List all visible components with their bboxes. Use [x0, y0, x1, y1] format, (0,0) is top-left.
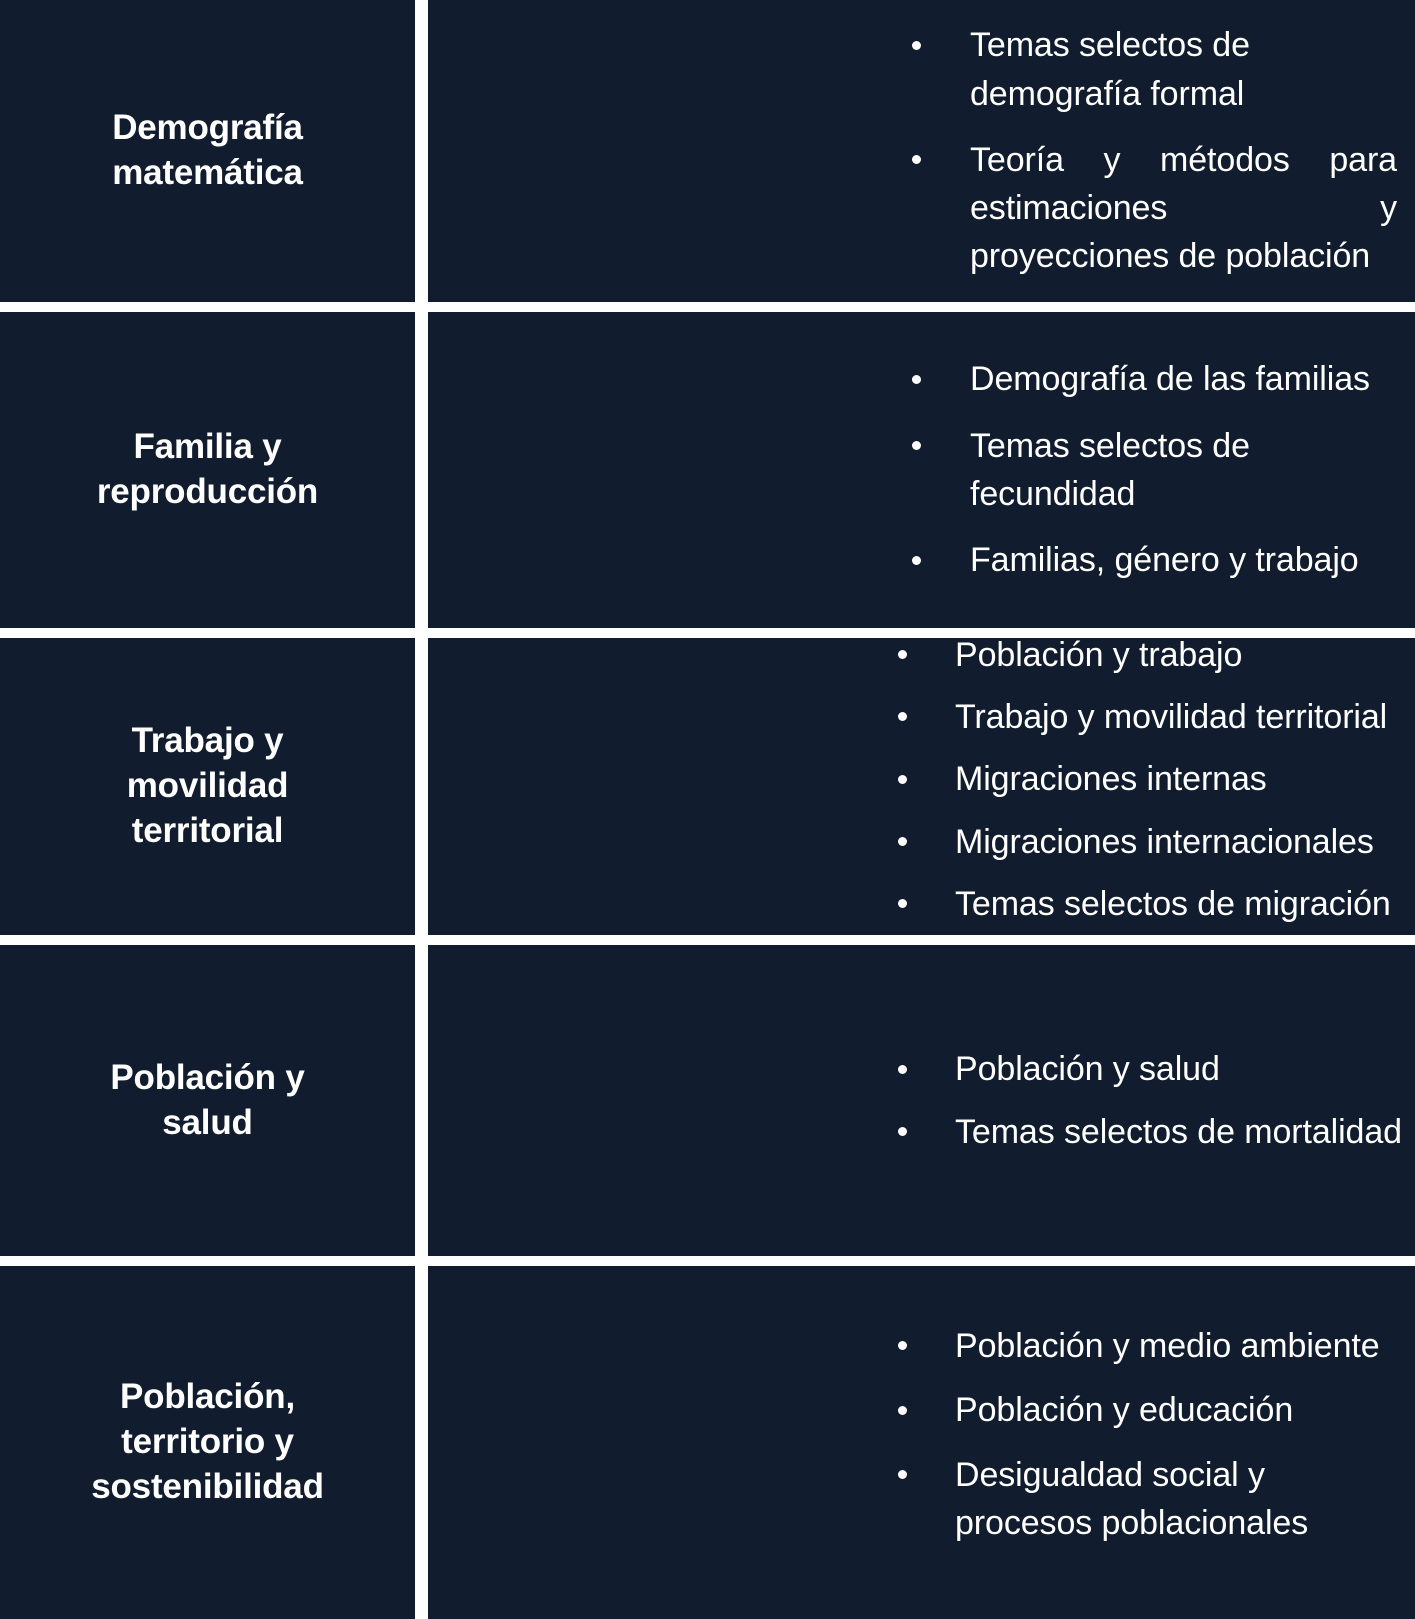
category-line: reproducción — [97, 472, 318, 511]
bullet-icon — [898, 1406, 907, 1415]
research-lines-table: Demografía matemática Temas selectos de … — [0, 0, 1415, 1619]
bullet-icon — [898, 775, 907, 784]
category-line: Población, — [120, 1377, 295, 1416]
bullet-icon — [912, 556, 921, 565]
category-label: Población y salud — [110, 1056, 304, 1146]
category-line: sostenibilidad — [91, 1467, 324, 1506]
category-line: movilidad — [127, 766, 289, 805]
list-item: Población y trabajo — [428, 631, 1415, 679]
topic-text: Población y medio ambiente — [955, 1327, 1380, 1365]
topics-list: Demografía de las familias Temas selecto… — [428, 355, 1415, 584]
bullet-icon — [898, 1065, 907, 1074]
category-label: Población, territorio y sostenibilidad — [91, 1375, 324, 1509]
list-item: Población y salud — [428, 1045, 1415, 1093]
category-line: Demografía — [112, 108, 303, 147]
bullet-icon — [912, 155, 921, 164]
topics-cell: Población y salud Temas selectos de mort… — [428, 945, 1415, 1256]
category-line: territorial — [132, 811, 283, 850]
category-label: Trabajo y movilidad territorial — [127, 719, 289, 853]
list-item: Población y educación — [428, 1386, 1415, 1434]
list-item: Temas selectos de migración — [428, 880, 1415, 928]
topic-text: Temas selectos de mortalidad — [955, 1113, 1402, 1151]
category-line: Familia y — [134, 427, 282, 466]
list-item: Población y medio ambiente — [428, 1322, 1415, 1370]
topic-text: Migraciones internacionales — [955, 823, 1374, 861]
topic-text: Población y educación — [955, 1391, 1293, 1429]
table-row: Trabajo y movilidad territorial Població… — [0, 638, 1415, 935]
topics-cell: Temas selectos de demografía formal Teor… — [428, 0, 1415, 302]
bullet-icon — [898, 1341, 907, 1350]
bullet-icon — [898, 899, 907, 908]
table-row: Población y salud Población y salud Tema… — [0, 945, 1415, 1256]
bullet-icon — [898, 712, 907, 721]
table-row: Demografía matemática Temas selectos de … — [0, 0, 1415, 302]
category-line: matemática — [112, 153, 303, 192]
list-item: Demografía de las familias — [428, 355, 1415, 403]
category-cell: Demografía matemática — [0, 0, 415, 302]
bullet-icon — [912, 441, 921, 450]
category-cell: Trabajo y movilidad territorial — [0, 638, 415, 935]
bullet-icon — [912, 375, 921, 384]
topic-text: Familias, género y trabajo — [970, 541, 1359, 579]
topics-cell: Demografía de las familias Temas selecto… — [428, 312, 1415, 628]
category-cell: Población y salud — [0, 945, 415, 1256]
list-item: Familias, género y trabajo — [428, 536, 1415, 584]
list-item: Temas selectos de mortalidad — [428, 1108, 1415, 1156]
topics-list: Población y medio ambiente Población y e… — [428, 1322, 1415, 1563]
bullet-icon — [898, 1470, 907, 1479]
topic-text: Desigualdad social y procesos poblaciona… — [955, 1456, 1308, 1542]
topics-list: Temas selectos de demografía formal Teor… — [428, 21, 1415, 280]
category-label: Familia y reproducción — [97, 425, 318, 515]
list-item: Desigualdad social y procesos poblaciona… — [428, 1451, 1415, 1548]
bullet-icon — [898, 650, 907, 659]
list-item: Temas selectos de fecundidad — [428, 422, 1415, 519]
topic-text: Población y salud — [955, 1050, 1220, 1088]
bullet-icon — [912, 41, 921, 50]
topics-cell: Población y medio ambiente Población y e… — [428, 1266, 1415, 1619]
topic-text: Temas selectos de migración — [955, 885, 1391, 923]
list-item: Migraciones internacionales — [428, 818, 1415, 866]
topic-text: Temas selectos de demografía formal — [970, 26, 1250, 112]
topic-text: Temas selectos de fecundidad — [970, 427, 1250, 513]
list-item: Teoría y métodos para estimaciones y pro… — [428, 136, 1415, 281]
list-item: Migraciones internas — [428, 755, 1415, 803]
list-item: Trabajo y movilidad territorial — [428, 693, 1415, 741]
category-label: Demografía matemática — [112, 106, 303, 196]
bullet-icon — [898, 1127, 907, 1136]
topics-list: Población y salud Temas selectos de mort… — [428, 1045, 1415, 1156]
category-line: salud — [162, 1103, 252, 1142]
category-line: Población y — [110, 1058, 304, 1097]
category-cell: Población, territorio y sostenibilidad — [0, 1266, 415, 1619]
table-row: Familia y reproducción Demografía de las… — [0, 312, 1415, 628]
topic-text: Teoría y métodos para estimaciones y pro… — [970, 141, 1397, 276]
bullet-icon — [898, 837, 907, 846]
topic-text: Población y trabajo — [955, 636, 1242, 674]
topic-text: Migraciones internas — [955, 760, 1267, 798]
category-line: Trabajo y — [132, 721, 284, 760]
category-line: territorio y — [121, 1422, 294, 1461]
table-row: Población, territorio y sostenibilidad P… — [0, 1266, 1415, 1619]
topics-list: Población y trabajo Trabajo y movilidad … — [428, 631, 1415, 942]
topic-text: Trabajo y movilidad territorial — [955, 698, 1387, 736]
topics-cell: Población y trabajo Trabajo y movilidad … — [428, 638, 1415, 935]
category-cell: Familia y reproducción — [0, 312, 415, 628]
topic-text: Demografía de las familias — [970, 360, 1370, 398]
list-item: Temas selectos de demografía formal — [428, 21, 1415, 118]
